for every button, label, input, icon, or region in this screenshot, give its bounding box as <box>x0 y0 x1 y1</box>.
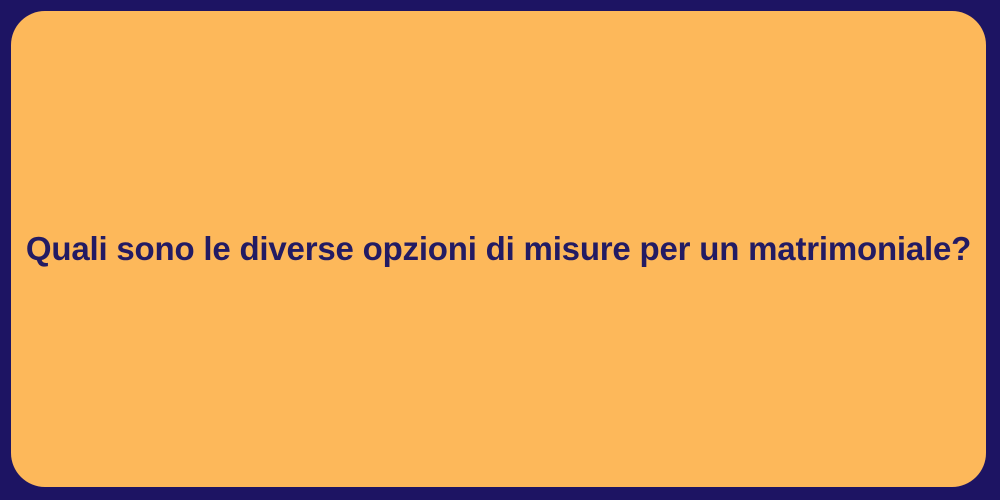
content-card: Quali sono le diverse opzioni di misure … <box>11 11 986 487</box>
card-inner: Quali sono le diverse opzioni di misure … <box>11 228 986 269</box>
question-heading: Quali sono le diverse opzioni di misure … <box>26 228 971 269</box>
page-frame: Quali sono le diverse opzioni di misure … <box>0 0 1000 500</box>
